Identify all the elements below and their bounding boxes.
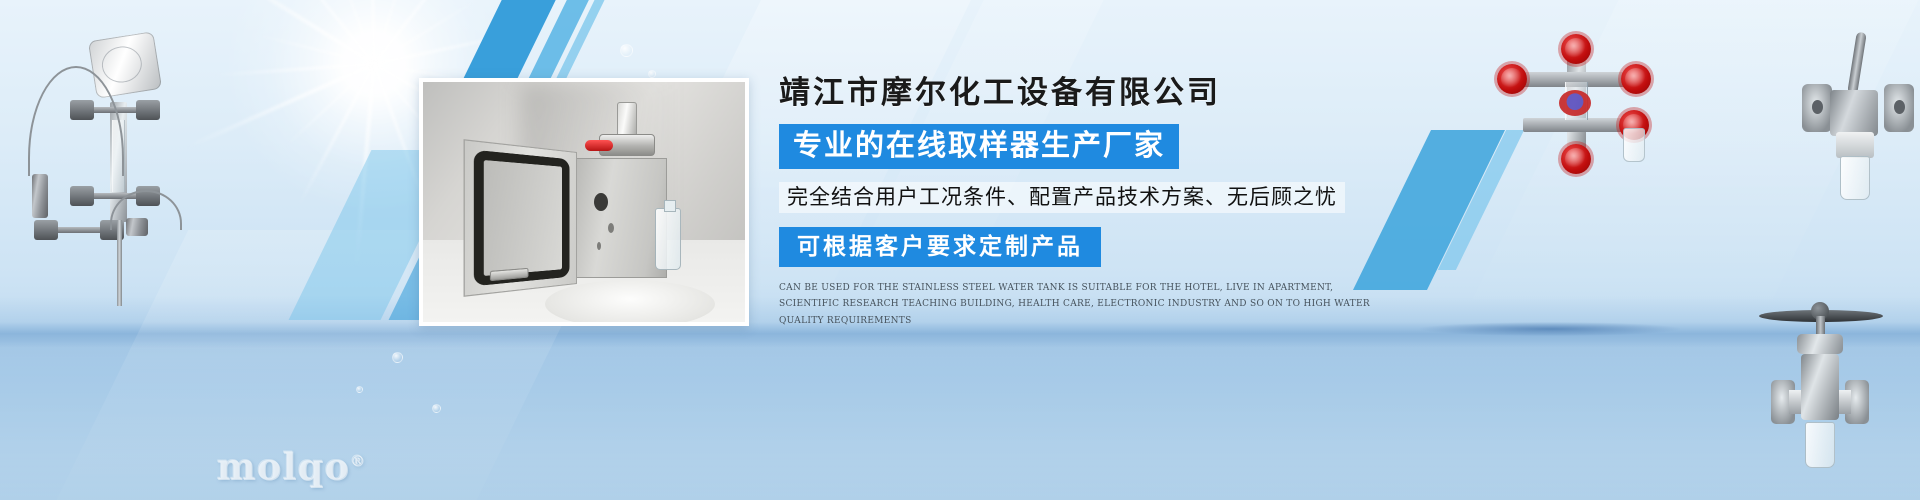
gate-valve-image [1745, 276, 1895, 476]
watermark-text: molqo [216, 444, 349, 488]
handwheel-icon [1561, 34, 1591, 64]
subheadline: 完全结合用户工况条件、配置产品技术方案、无后顾之忧 [779, 182, 1345, 213]
tree-sample-jar [1623, 128, 1645, 162]
company-name: 靖江市摩尔化工设备有限公司 [779, 76, 1399, 112]
handwheel-icon [1561, 144, 1591, 174]
sampler-sample-jar [1840, 156, 1870, 200]
copy-block: 靖江市摩尔化工设备有限公司 专业的在线取样器生产厂家 完全结合用户工况条件、配置… [779, 76, 1399, 330]
horizon-shadow [1420, 322, 1680, 336]
promo-banner: 靖江市摩尔化工设备有限公司 专业的在线取样器生产厂家 完全结合用户工况条件、配置… [0, 0, 1920, 500]
gate-valve-body [1801, 354, 1839, 420]
handwheel-icon [1497, 64, 1527, 94]
gate-valve-bonnet [1797, 334, 1843, 354]
photo-cabinet-body [575, 158, 667, 278]
photo-valve-assembly [591, 100, 665, 164]
sampler-flange-left [1802, 84, 1832, 132]
cross-valve-tree-image [1497, 42, 1657, 162]
sampler-lever [1847, 32, 1867, 95]
handwheel-icon [1621, 64, 1651, 94]
sampler-drum [1836, 132, 1874, 158]
registered-mark-icon: ® [349, 452, 365, 470]
photo-pedestal [545, 280, 715, 322]
water-droplet [392, 352, 403, 363]
rig-regulator [32, 174, 48, 218]
water-droplet [648, 70, 656, 78]
water-droplet [432, 404, 441, 413]
callout-badge: 可根据客户要求定制产品 [779, 227, 1101, 266]
photo-cabinet-door [464, 139, 577, 297]
sampler-body [1830, 90, 1878, 136]
brand-watermark: molqo® [216, 444, 365, 488]
center-product-photo [419, 78, 749, 326]
gate-valve-sample-jar [1805, 422, 1835, 468]
rig-stand [117, 220, 122, 306]
left-rig-image [14, 24, 194, 304]
water-droplet [620, 44, 633, 57]
flanged-sampler-image [1800, 32, 1918, 208]
sampler-flange-right [1884, 84, 1914, 132]
brand-seal-icon [1559, 90, 1591, 116]
headline-badge: 专业的在线取样器生产厂家 [779, 124, 1179, 169]
water-droplet [356, 386, 363, 393]
english-description: CAN BE USED FOR THE STAINLESS STEEL WATE… [779, 280, 1383, 330]
photo-sample-bottle [655, 208, 681, 270]
